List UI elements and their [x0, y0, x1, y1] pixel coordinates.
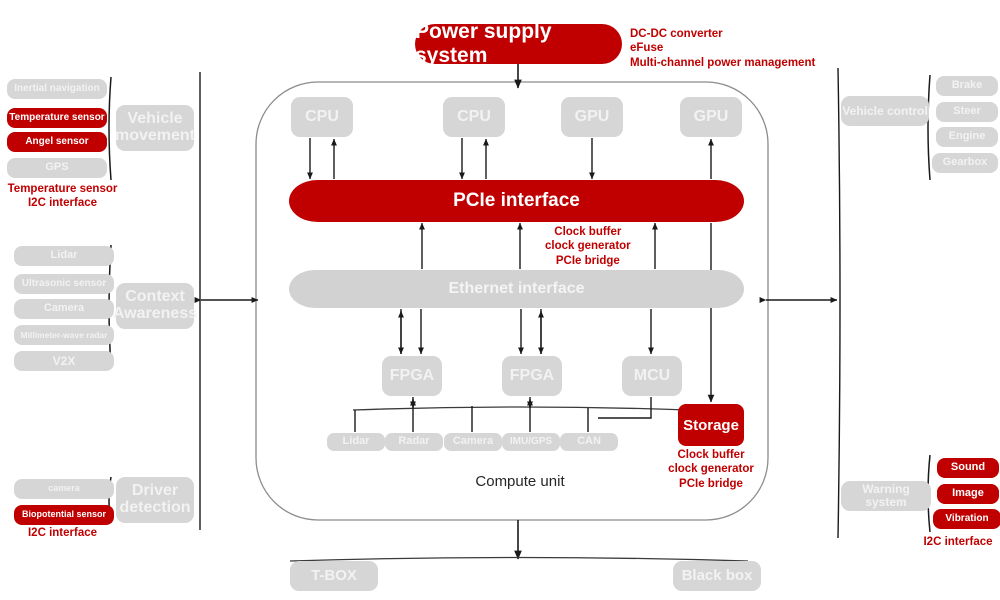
- group-label: Context Awareness: [113, 289, 197, 323]
- storage-note: Clock buffer clock generator PCIe bridge: [660, 448, 762, 491]
- pcie-interface-label: PCIe interface: [453, 190, 580, 212]
- group-driver-detection[interactable]: Driver detection: [116, 477, 194, 523]
- sensor-v2x[interactable]: V2X: [14, 351, 114, 371]
- sensor-ultrasonic[interactable]: Ultrasonic sensor: [14, 274, 114, 294]
- sensor-label: Millimeter-wave radar: [21, 331, 108, 340]
- power-supply-note: DC-DC converter eFuse Multi-channel powe…: [630, 27, 815, 70]
- sensor-label: Camera: [44, 303, 84, 315]
- core-label: GPU: [694, 109, 729, 126]
- warning-vibration[interactable]: Vibration: [933, 509, 1000, 529]
- diagram-canvas: Power supply system DC-DC converter eFus…: [0, 0, 1000, 600]
- sensor-camera[interactable]: Camera: [14, 299, 114, 319]
- group-warning-system[interactable]: Warning system: [841, 481, 931, 511]
- processor-fpga-2[interactable]: FPGA: [502, 356, 562, 396]
- group-vehicle-control[interactable]: Vehicle control: [841, 96, 929, 126]
- actuator-label: Engine: [949, 131, 986, 143]
- group-context-awareness[interactable]: Context Awareness: [116, 283, 194, 329]
- actuator-label: Sound: [951, 462, 985, 474]
- io-port-label: IMU/GPS: [510, 437, 552, 448]
- sensor-label: GPS: [45, 162, 68, 174]
- actuator-steer[interactable]: Steer: [936, 102, 998, 122]
- processor-fpga-1[interactable]: FPGA: [382, 356, 442, 396]
- io-port-label: CAN: [577, 436, 601, 448]
- sensor-driver-camera[interactable]: camera: [14, 479, 114, 499]
- processor-label: MCU: [634, 368, 670, 385]
- sensor-temperature[interactable]: Temperature sensor: [7, 108, 107, 128]
- storage-node[interactable]: Storage: [678, 404, 744, 446]
- group-vehicle-movement[interactable]: Vehicle movement: [116, 105, 194, 151]
- sensor-millimeter-wave-radar[interactable]: Millimeter-wave radar: [14, 325, 114, 345]
- driver-detection-note: I2C interface: [5, 526, 120, 540]
- node-black-box[interactable]: Black box: [673, 561, 761, 591]
- sensor-label: Ultrasonic sensor: [22, 279, 106, 290]
- core-cpu-2[interactable]: CPU: [443, 97, 505, 137]
- io-port-label: Radar: [398, 436, 429, 448]
- core-cpu-1[interactable]: CPU: [291, 97, 353, 137]
- sensor-label: Angel sensor: [25, 137, 88, 148]
- group-label: Vehicle control: [842, 105, 927, 118]
- io-port-camera[interactable]: Camera: [444, 433, 502, 451]
- actuator-label: Steer: [953, 106, 981, 118]
- processor-label: FPGA: [390, 368, 434, 385]
- warning-image[interactable]: Image: [937, 484, 999, 504]
- io-port-imu-gps[interactable]: IMU/GPS: [502, 433, 560, 451]
- ethernet-interface-bar[interactable]: Ethernet interface: [289, 270, 744, 308]
- node-t-box[interactable]: T-BOX: [290, 561, 378, 591]
- actuator-label: Image: [952, 488, 984, 500]
- pcie-note: Clock buffer clock generator PCIe bridge: [545, 225, 631, 268]
- core-gpu-1[interactable]: GPU: [561, 97, 623, 137]
- io-port-lidar[interactable]: Lidar: [327, 433, 385, 451]
- sensor-label: V2X: [53, 355, 76, 368]
- pcie-interface-bar[interactable]: PCIe interface: [289, 180, 744, 222]
- actuator-gearbox[interactable]: Gearbox: [932, 153, 998, 173]
- actuator-label: Gearbox: [943, 157, 988, 169]
- actuator-brake[interactable]: Brake: [936, 76, 998, 96]
- sensor-label: Biopotential sensor: [22, 510, 106, 519]
- node-label: T-BOX: [311, 568, 357, 584]
- group-label: Vehicle movement: [115, 111, 195, 145]
- group-label: Driver detection: [116, 483, 194, 517]
- group-label: Warning system: [841, 483, 931, 508]
- io-port-label: Lidar: [343, 436, 370, 448]
- core-gpu-2[interactable]: GPU: [680, 97, 742, 137]
- warning-sound[interactable]: Sound: [937, 458, 999, 478]
- power-supply-system-node[interactable]: Power supply system: [415, 24, 622, 64]
- sensor-inertial-navigation[interactable]: Inertial navigation: [7, 79, 107, 99]
- core-label: GPU: [575, 109, 610, 126]
- actuator-label: Vibration: [945, 514, 988, 525]
- actuator-engine[interactable]: Engine: [936, 127, 998, 147]
- io-port-radar[interactable]: Radar: [385, 433, 443, 451]
- ethernet-interface-label: Ethernet interface: [448, 280, 584, 298]
- sensor-label: camera: [48, 484, 80, 493]
- sensor-label: Temperature sensor: [9, 113, 104, 124]
- sensor-angel[interactable]: Angel sensor: [7, 132, 107, 152]
- warning-system-note: I2C interface: [916, 535, 1000, 549]
- core-label: CPU: [305, 109, 339, 126]
- sensor-biopotential[interactable]: Biopotential sensor: [14, 505, 114, 525]
- io-port-label: Camera: [453, 436, 493, 448]
- storage-label: Storage: [683, 417, 739, 434]
- core-label: CPU: [457, 109, 491, 126]
- sensor-lidar[interactable]: Lidar: [14, 246, 114, 266]
- processor-label: FPGA: [510, 368, 554, 385]
- processor-mcu[interactable]: MCU: [622, 356, 682, 396]
- sensor-label: Inertial navigation: [14, 84, 100, 95]
- vehicle-movement-note: Temperature sensor I2C interface: [5, 182, 120, 211]
- actuator-label: Brake: [952, 80, 983, 92]
- io-port-can[interactable]: CAN: [560, 433, 618, 451]
- power-supply-label: Power supply system: [415, 20, 622, 68]
- node-label: Black box: [682, 568, 753, 584]
- compute-unit-label: Compute unit: [455, 473, 585, 490]
- sensor-label: Lidar: [51, 250, 78, 262]
- sensor-gps[interactable]: GPS: [7, 158, 107, 178]
